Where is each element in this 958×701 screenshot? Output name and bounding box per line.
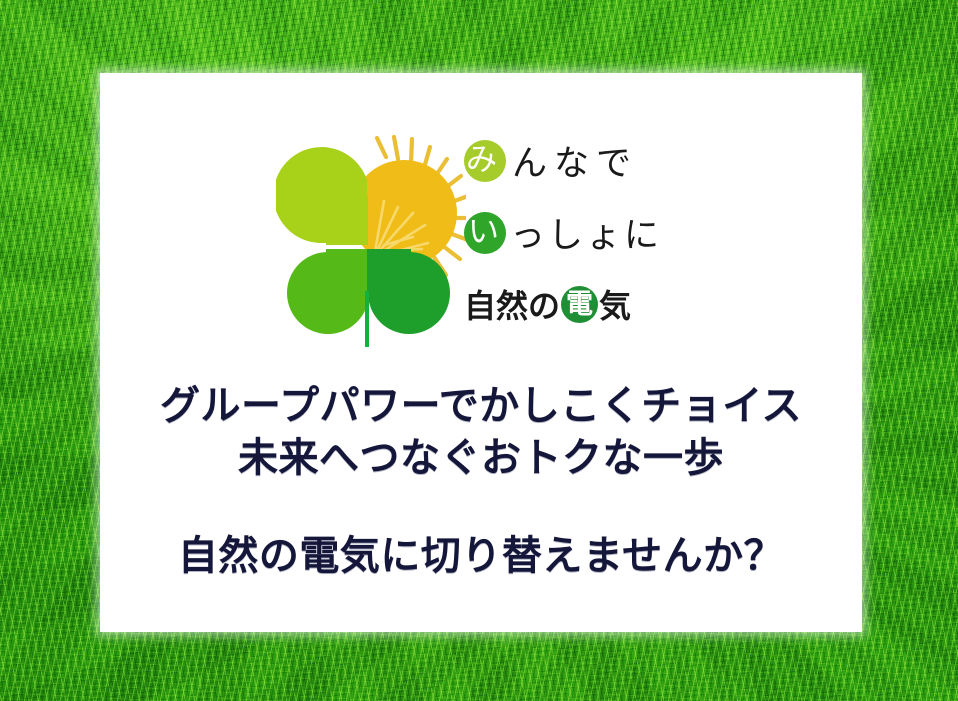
headline-line-1: グループパワーでかしこくチョイス <box>100 373 862 431</box>
logo-line-issho-ni-rest: っしょに <box>510 207 662 258</box>
logo-line-issho-ni: い っしょに <box>464 207 662 258</box>
logo-line-minna-de-rest: んなで <box>512 135 638 186</box>
logo-line-shizen-no-denki-suffix: 気 <box>599 281 631 327</box>
headline-question: 自然の電気に切り替えませんか？ <box>100 523 862 581</box>
clover-sun-logo-icon <box>276 133 466 348</box>
logo-badge-mi: み <box>464 140 506 182</box>
logo-line-shizen-no-denki-prefix: 自然の <box>464 281 560 327</box>
headline-line-2: 未来へつなぐおトクな一歩 <box>100 425 862 483</box>
logo-badge-i: い <box>464 212 506 254</box>
logo-line-minna-de: み んなで <box>464 135 638 186</box>
brand-logo-wordmark: み んなで い っしょに 自然の 電 気 <box>464 133 696 348</box>
brand-logo: み んなで い っしょに 自然の 電 気 <box>276 133 696 348</box>
white-content-card: み んなで い っしょに 自然の 電 気 グループパワーでかしこくチョイス 未来… <box>100 73 862 632</box>
logo-badge-den: 電 <box>561 286 598 323</box>
logo-line-shizen-no-denki: 自然の 電 気 <box>464 281 631 327</box>
promo-poster: み んなで い っしょに 自然の 電 気 グループパワーでかしこくチョイス 未来… <box>0 0 958 701</box>
